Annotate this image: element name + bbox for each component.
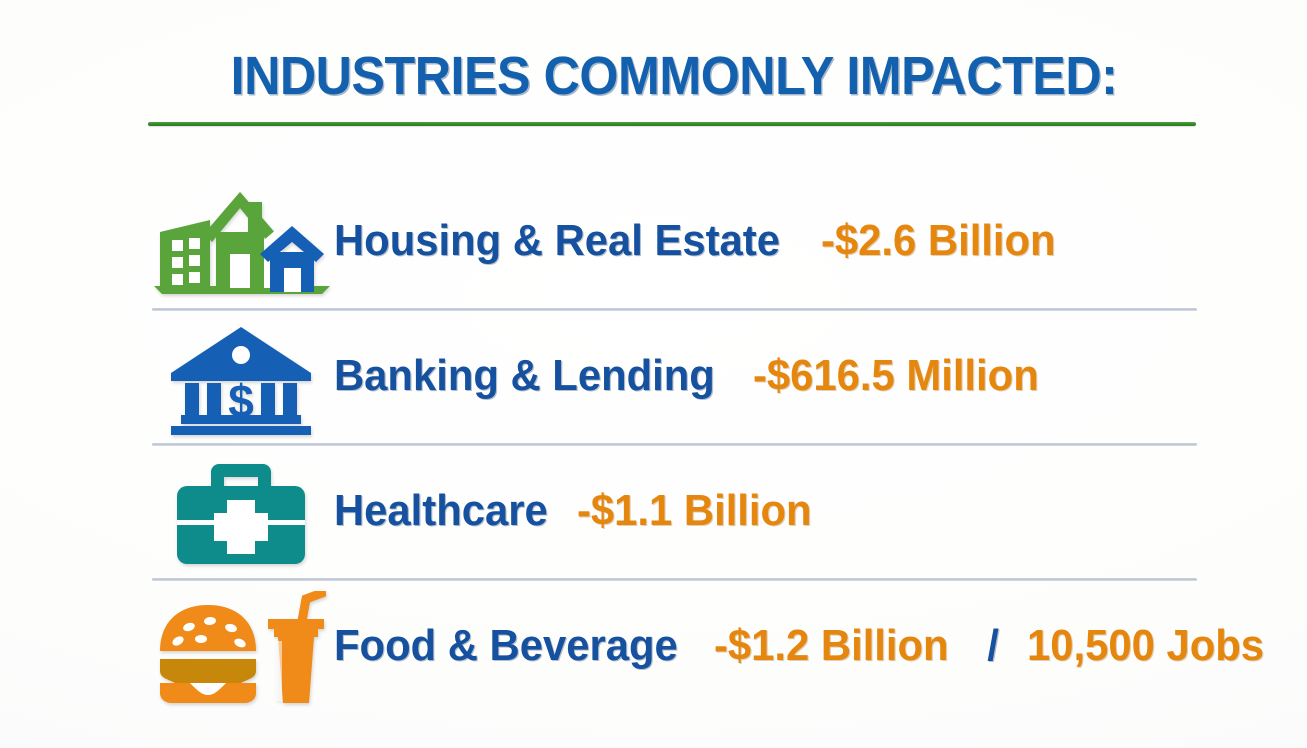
food-drink-icon (148, 589, 334, 709)
list-item: Housing & Real Estate -$2.6 Billion (148, 176, 1200, 311)
industry-value: -$1.1 Billion (577, 487, 812, 535)
row-text: Healthcare -$1.1 Billion (334, 487, 824, 541)
industry-list: Housing & Real Estate -$2.6 Billion (148, 176, 1200, 716)
list-item: Healthcare -$1.1 Billion (148, 446, 1200, 581)
list-item: $ Banking & Lending -$616.5 Million (148, 311, 1200, 446)
jobs-value: 10,500 Jobs (1027, 622, 1264, 670)
infographic-canvas: INDUSTRIES COMMONLY IMPACTED: (0, 0, 1307, 748)
row-text: Housing & Real Estate -$2.6 Billion (334, 217, 1068, 271)
title-underline-rule (148, 122, 1196, 126)
row-text: Banking & Lending -$616.5 Million (334, 352, 1054, 406)
industry-label: Housing & Real Estate (334, 217, 780, 265)
industry-label: Healthcare (334, 487, 548, 535)
houses-icon (148, 184, 334, 304)
industry-value: -$1.2 Billion (714, 622, 949, 670)
bank-icon: $ (148, 319, 334, 439)
title-block: INDUSTRIES COMMONLY IMPACTED: (148, 44, 1200, 126)
industry-value: -$616.5 Million (753, 352, 1039, 400)
value-separator: / (987, 622, 999, 670)
industry-label: Food & Beverage (334, 622, 678, 670)
row-text: Food & Beverage -$1.2 Billion / 10,500 J… (334, 622, 1277, 676)
industry-label: Banking & Lending (334, 352, 715, 400)
page-title: INDUSTRIES COMMONLY IMPACTED: (185, 44, 1163, 108)
medical-bag-icon (148, 454, 334, 574)
list-item: Food & Beverage -$1.2 Billion / 10,500 J… (148, 581, 1200, 716)
industry-value: -$2.6 Billion (821, 217, 1056, 265)
